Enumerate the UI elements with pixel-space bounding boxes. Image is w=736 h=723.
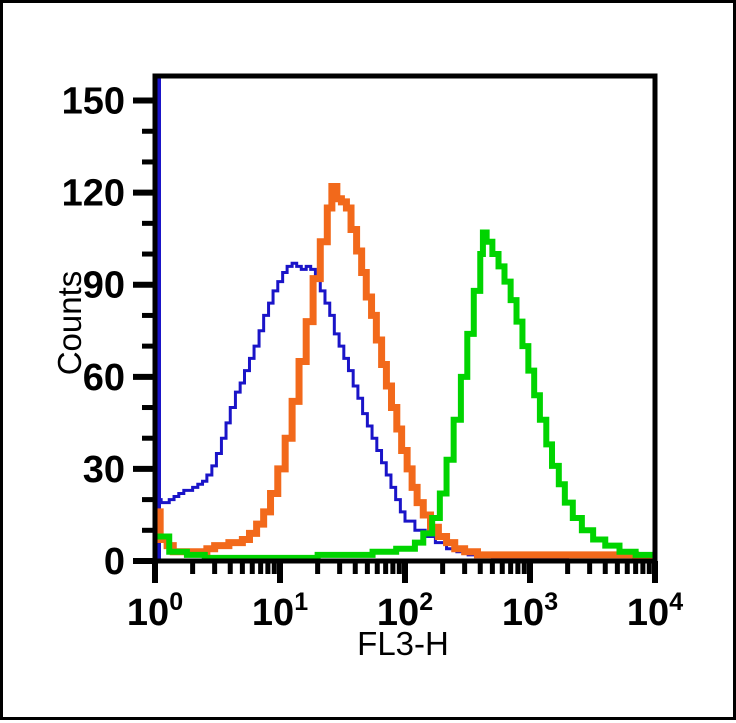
x-axis-title: FL3-H — [357, 625, 449, 662]
y-tick-label: 0 — [104, 541, 125, 583]
x-tick-label: 101 — [252, 588, 308, 634]
x-tick-label: 103 — [502, 588, 558, 634]
y-axis-ticks — [133, 101, 155, 561]
blue-histogram — [155, 76, 655, 561]
histogram-curves — [154, 76, 655, 561]
y-axis-title: Counts — [51, 271, 88, 376]
plot-frame — [155, 76, 655, 561]
histogram-plot: 100101102103104 0306090120150 FL3-H Coun… — [3, 3, 736, 723]
y-tick-label: 90 — [83, 265, 125, 307]
y-tick-label: 150 — [62, 81, 125, 123]
y-tick-label: 30 — [83, 449, 125, 491]
x-axis-ticks — [155, 561, 655, 583]
y-tick-label: 60 — [83, 357, 125, 399]
x-tick-label: 100 — [127, 588, 183, 634]
orange-histogram — [155, 187, 655, 558]
x-tick-label: 104 — [627, 588, 683, 634]
axes-frame — [155, 76, 655, 561]
green-histogram — [155, 233, 655, 558]
flow-cytometry-figure: 100101102103104 0306090120150 FL3-H Coun… — [0, 0, 736, 720]
y-tick-label: 120 — [62, 173, 125, 215]
